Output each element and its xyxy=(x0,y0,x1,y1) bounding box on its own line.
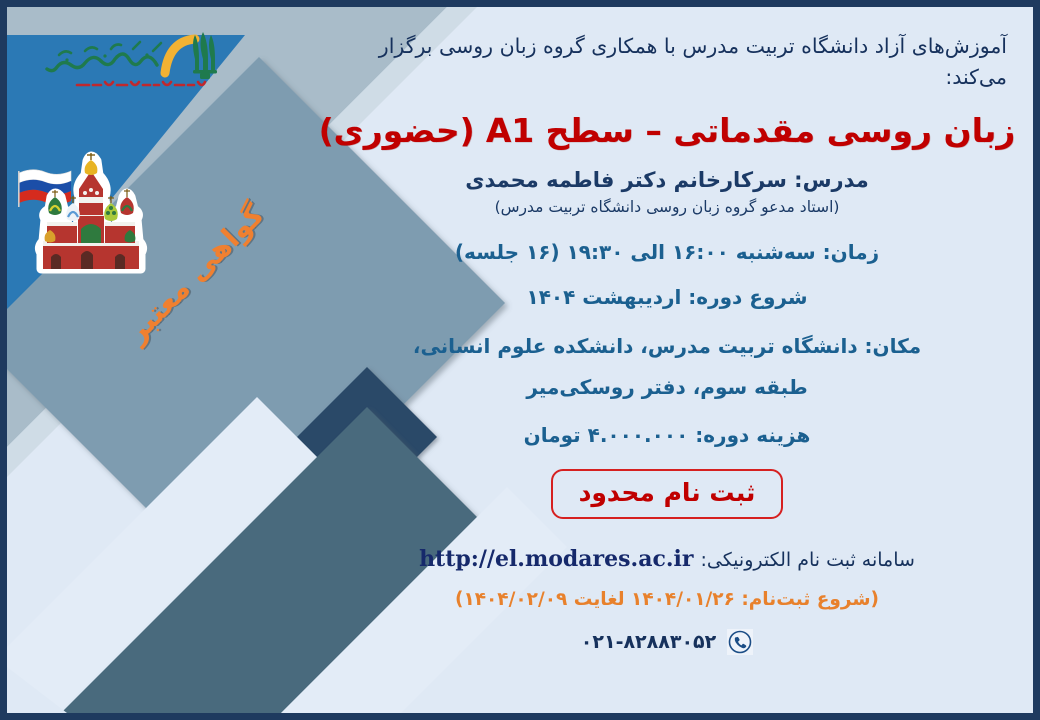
registration-url-label: سامانه ثبت نام الکترونیکی: xyxy=(700,549,915,571)
registration-dates: (شروع ثبت‌نام: ۱۴۰۴/۰۱/۲۶ لغایت ۱۴۰۴/۰۲/… xyxy=(317,589,1017,610)
limited-registration-badge[interactable]: ثبت نام محدود xyxy=(551,469,784,519)
poster-root: گواهی معتبر xyxy=(0,0,1040,720)
registration-url-row: سامانه ثبت نام الکترونیکی: http://el.mod… xyxy=(317,546,1017,572)
teacher-affiliation: (استاد مدعو گروه زبان روسی دانشگاه تربیت… xyxy=(317,197,1017,219)
course-location-line2: طبقه سوم، دفتر روسکی‌میر xyxy=(317,370,1017,405)
university-logo xyxy=(37,25,257,95)
registration-badge-wrap: ثبت نام محدود xyxy=(317,469,1017,519)
course-title: زبان روسی مقدماتی – سطح A1 (حضوری) xyxy=(317,110,1017,151)
teacher-name: مدرس: سرکارخانم دکتر فاطمه محمدی xyxy=(317,166,1017,195)
course-start: شروع دوره: اردیبهشت ۱۴۰۴ xyxy=(317,285,1017,309)
logo-subtitle xyxy=(77,82,205,85)
phone-icon xyxy=(727,629,753,655)
course-location-line1: مکان: دانشگاه تربیت مدرس، دانشکده علوم ا… xyxy=(317,329,1017,364)
logo-tulips xyxy=(193,32,217,79)
course-fee: هزینه دوره: ۴.۰۰۰.۰۰۰ تومان xyxy=(317,423,1017,447)
logo-wordmark xyxy=(47,42,161,71)
registration-url-link[interactable]: http://el.modares.ac.ir xyxy=(419,546,693,572)
course-time: زمان: سه‌شنبه ۱۶:۰۰ الی ۱۹:۳۰ (۱۶ جلسه) xyxy=(317,240,1017,264)
logo-arch xyxy=(165,39,195,73)
intro-text: آموزش‌های آزاد دانشگاه تربیت مدرس با همک… xyxy=(317,21,1017,93)
phone-number[interactable]: ۰۲۱-۸۲۸۸۳۰۵۲ xyxy=(581,631,716,653)
teacher-block: مدرس: سرکارخانم دکتر فاطمه محمدی (استاد … xyxy=(317,166,1017,219)
content-column: آموزش‌های آزاد دانشگاه تربیت مدرس با همک… xyxy=(317,21,1017,655)
phone-row: ۰۲۱-۸۲۸۸۳۰۵۲ xyxy=(317,629,1017,655)
